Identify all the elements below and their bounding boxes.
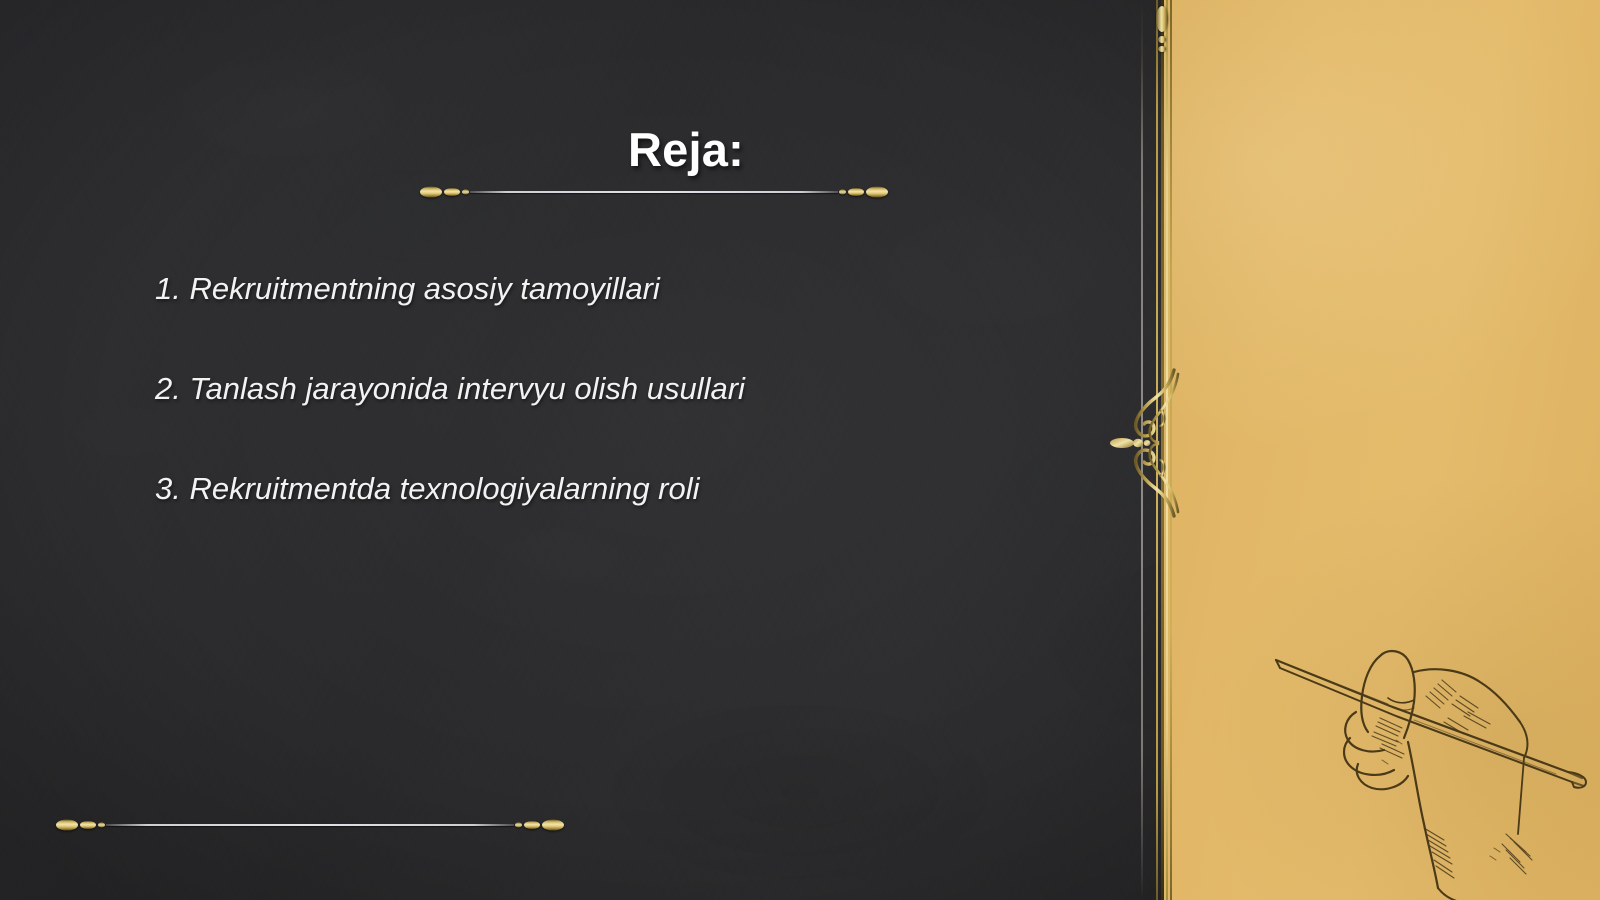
finial-lozenge-mid-icon bbox=[1158, 36, 1166, 43]
presentation-slide: Reja: 1. Rekruitmentning asosiy tamoyill… bbox=[0, 0, 1600, 900]
hand-holding-pen-illustration bbox=[1238, 612, 1600, 900]
finial-lozenge-large-icon bbox=[1156, 6, 1168, 32]
finial-ornament-icon bbox=[1154, 0, 1170, 62]
agenda-item-1: 1. Rekruitmentning asosiy tamoyillari bbox=[155, 272, 1055, 306]
agenda-list: 1. Rekruitmentning asosiy tamoyillari 2.… bbox=[155, 272, 1055, 506]
page-title: Reja: bbox=[628, 126, 744, 173]
agenda-item-3: 3. Rekruitmentda texnologiyalarning roli bbox=[155, 472, 1055, 506]
filigree-scroll-ornament-icon bbox=[1096, 368, 1192, 518]
finial-lozenge-small-icon bbox=[1158, 46, 1166, 52]
agenda-item-2: 2. Tanlash jarayonida intervyu olish usu… bbox=[155, 372, 1055, 406]
